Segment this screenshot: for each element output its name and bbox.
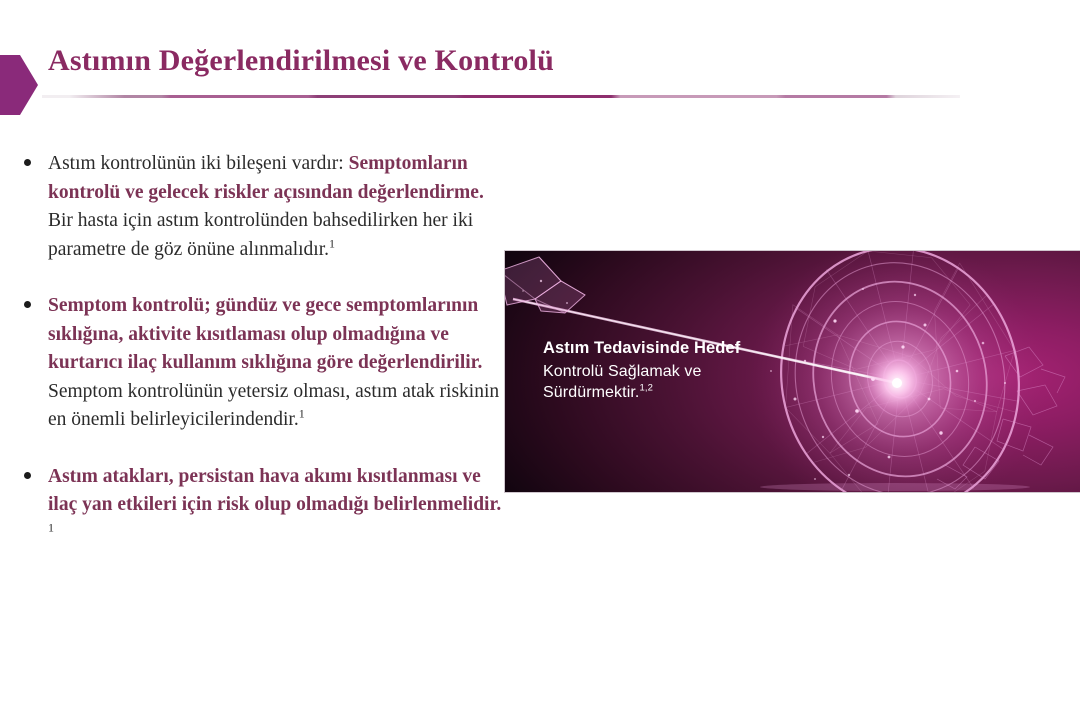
bullet-dot-icon bbox=[24, 472, 31, 479]
bullet-dot-icon bbox=[24, 301, 31, 308]
header-arrow-icon bbox=[0, 55, 38, 115]
bullet-1-seg-0: Astım kontrolünün iki bileşeni vardır: bbox=[48, 153, 349, 174]
bullet-3-seg-0: Astım atakları, persistan hava akımı kıs… bbox=[48, 466, 501, 516]
bullet-2-reference: 1 bbox=[299, 407, 305, 421]
bullet-list: Astım kontrolünün iki bileşeni vardır: S… bbox=[20, 150, 510, 576]
bullet-1-reference: 1 bbox=[329, 236, 335, 250]
title-divider bbox=[42, 95, 960, 98]
page-title: Astımın Değerlendirilmesi ve Kontrolü bbox=[48, 44, 554, 78]
image-panel: Astım Tedavisinde Hedef Kontrolü Sağlama… bbox=[504, 250, 1080, 493]
bullet-2-seg-1: Semptom kontrolünün yetersiz olması, ast… bbox=[48, 381, 499, 431]
bullet-3-reference: 1 bbox=[48, 520, 54, 534]
slide-header: Astımın Değerlendirilmesi ve Kontrolü bbox=[0, 0, 1080, 120]
list-item: Astım atakları, persistan hava akımı kıs… bbox=[20, 463, 510, 549]
caption-line-2: Kontrolü Sağlamak ve bbox=[543, 361, 803, 382]
caption-heading: Astım Tedavisinde Hedef bbox=[543, 339, 803, 358]
list-item: Astım kontrolünün iki bileşeni vardır: S… bbox=[20, 150, 510, 264]
list-item: Semptom kontrolü; gündüz ve gece semptom… bbox=[20, 292, 510, 435]
bullet-2-seg-0: Semptom kontrolü; gündüz ve gece semptom… bbox=[48, 295, 482, 373]
panel-caption: Astım Tedavisinde Hedef Kontrolü Sağlama… bbox=[543, 339, 803, 403]
bullet-1-seg-2: Bir hasta için astım kontrolünden bahsed… bbox=[48, 210, 473, 260]
bullet-dot-icon bbox=[24, 159, 31, 166]
caption-line-3: Sürdürmektir.1,2 bbox=[543, 382, 803, 403]
caption-reference: 1,2 bbox=[639, 383, 653, 394]
caption-line-3-text: Sürdürmektir. bbox=[543, 384, 639, 401]
